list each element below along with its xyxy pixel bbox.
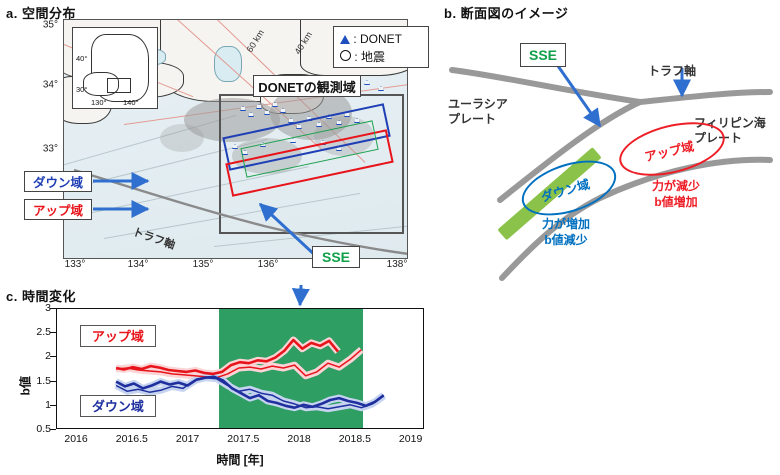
map-x-tick: 136° <box>258 259 279 270</box>
cross-section-sse-chip: SSE <box>520 43 566 67</box>
chart-y-tick: 1.5 <box>36 375 51 387</box>
down-zone-note: 力が増加 b値減少 <box>520 216 612 248</box>
map-x-tick: 138° <box>387 259 408 270</box>
chart-x-axis-label: 時間 [年] <box>56 451 424 468</box>
eurasian-plate-label: ユーラシア プレート <box>448 97 508 127</box>
map-x-tick: 135° <box>193 259 214 270</box>
chart-legend-down-zone: ダウン域 <box>80 395 156 417</box>
map-x-tick: 133° <box>65 259 86 270</box>
panel-spatial-distribution: a. 空間分布 35° 34° 33° 32° <box>0 0 440 285</box>
up-zone-note: 力が減少 b値増加 <box>630 178 722 210</box>
chart-y-tickmark <box>50 429 56 430</box>
panel-cross-section: b. 断面図のイメージ SSE トラフ軸 ユーラシア プレート フィリピン海 プ… <box>440 0 780 285</box>
chart-x-tick: 2017.5 <box>227 433 259 445</box>
chart-x-tick: 2016.5 <box>116 433 148 445</box>
cross-section-trough-axis-label: トラフ軸 <box>648 62 696 79</box>
map-sse-chip: SSE <box>312 246 360 268</box>
chart-x-tick: 2018.5 <box>339 433 371 445</box>
up-zone-note-line1: 力が減少 <box>630 178 722 194</box>
philippine-plate-top <box>640 92 770 102</box>
map-arrows <box>0 0 440 285</box>
up-zone-note-line2: b値増加 <box>630 194 722 210</box>
chart-x-ticks: 20162016.520172017.520182018.52019 <box>0 431 440 451</box>
down-zone-note-line1: 力が増加 <box>520 216 612 232</box>
map-x-tick: 134° <box>128 259 149 270</box>
chart-legend-up-zone: アップ域 <box>80 325 156 347</box>
down-zone-note-line2: b値減少 <box>520 232 612 248</box>
chart-y-tick: 2.5 <box>36 326 51 338</box>
chart-x-tick: 2018 <box>287 433 310 445</box>
chart-x-tick: 2017 <box>176 433 199 445</box>
eurasian-plate-label-line2: プレート <box>448 112 508 127</box>
eurasian-plate-label-line1: ユーラシア <box>448 97 508 112</box>
chart-x-tick: 2019 <box>399 433 422 445</box>
chart-x-tick: 2016 <box>64 433 87 445</box>
b-value-time-series-plot[interactable]: アップ域 ダウン域 <box>56 308 424 429</box>
arrow-sse-to-map <box>260 204 317 257</box>
panel-time-series: c. 時間変化 b値 時間 [年] 32.521.510.5 20162016.… <box>0 285 440 475</box>
